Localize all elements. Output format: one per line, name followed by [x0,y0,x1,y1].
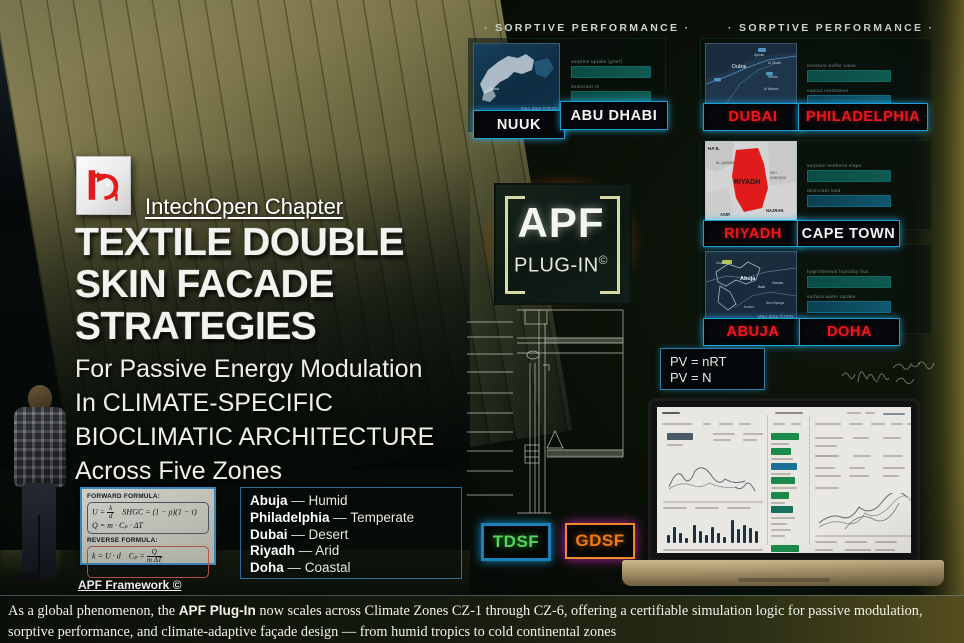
reverse-formula-heading: REVERSE FORMULA: [87,537,209,544]
forward-equation-2: Q = m · Cₚ · ΔT [92,520,204,531]
page-title: TEXTILE DOUBLE SKIN FACADE STRATEGIES [75,222,475,348]
apf-plugin-label: PLUG-IN© [494,253,628,278]
list-item: Dubai — Desert [250,527,461,544]
svg-text:Mleiha: Mleiha [768,75,778,79]
panel-group-riyadh: الرياض RIYADH HA'IL AL QASSIM ASH SHARQI… [700,140,932,230]
forward-formula-box: U = kd SHGC = (1 − ρ)(1 − τ) Q = m · Cₚ … [87,502,209,534]
laptop-trackpad [738,578,830,582]
map-coastline-icon: Nuuk [474,44,559,112]
title-line-3: STRATEGIES [75,306,475,348]
dashboard-screen[interactable] [657,407,911,553]
map-roads-icon: Abuja Gwarinpa Ado Masaka Kuduru New Nya… [706,252,796,320]
reverse-formula-box: k = U · d Cₚ = Qm ΔT ρ = 1 − SHGC [87,546,209,578]
reverse-equation-1: k = U · d Cₚ = Qm ΔT [92,549,204,564]
facade-section-drawing [455,305,645,527]
city-chip-cape-town[interactable]: CAPE TOWN [797,220,900,247]
copyright-symbol: © [599,253,608,267]
caption-bar: As a global phenomenon, the APF Plug-In … [0,595,964,643]
forward-equation-1: U = kd SHGC = (1 − ρ)(1 − τ) [92,505,204,520]
city-chip-nuuk[interactable]: NUUK [473,110,565,139]
subtitle-line-3: BIOCLIMATIC ARCHITECTURE [75,420,495,454]
svg-text:SHARQIYA: SHARQIYA [770,176,787,180]
city-chip-doha[interactable]: DOHA [799,318,900,346]
field-bar-1[interactable] [807,70,891,82]
svg-text:AL QASSIM: AL QASSIM [716,161,734,165]
field-label-1: moisture buffer value [807,63,856,68]
climate-zone-list: Abuja — Humid Philadelphia — Temperate D… [240,487,462,579]
svg-text:ASIR: ASIR [720,212,730,217]
svg-text:Abuja: Abuja [740,276,756,282]
svg-text:الرياض: الرياض [738,172,750,177]
field-label-2: desiccant load [807,188,841,193]
reverse-equation-2: ρ = 1 − SHGC [92,564,204,575]
list-item: Philadelphia — Temperate [250,510,461,527]
list-item: Abuja — Humid [250,493,461,510]
laptop-lid [648,398,920,562]
handwriting-scribble [838,356,943,392]
sorptive-panel-right: · SORPTIVE PERFORMANCE · Dubai Ajman Al … [700,22,930,352]
map-thumbnail-nuuk[interactable]: Nuuk Map data ©2025 [473,43,560,113]
subtitle-line-1: For Passive Energy Modulation [75,352,495,386]
laptop-base [622,560,944,586]
svg-text:Masaka: Masaka [772,281,783,285]
svg-text:NAJRAN: NAJRAN [766,208,783,213]
field-label-1: hygrothermal humidity flux [807,269,868,274]
caption-text: As a global phenomenon, the APF Plug-In … [0,596,964,643]
formula-card: FORWARD FORMULA: U = kd SHGC = (1 − ρ)(1… [80,487,216,565]
pv-line-2: PV = N [670,370,764,386]
field-bar-1[interactable] [571,66,651,78]
city-chip-abu-dhabi[interactable]: ABU DHABI [560,101,668,130]
tag-tdsf[interactable]: TDSF [481,523,551,561]
subtitle-line-2: In CLIMATE-SPECIFIC [75,386,495,420]
city-chip-philadelphia[interactable]: PHILADELPHIA [798,103,928,131]
list-item: Riyadh — Arid [250,543,461,560]
city-chip-dubai[interactable]: DUBAI [703,103,803,131]
pv-line-1: PV = nRT [670,354,764,370]
svg-text:ASH: ASH [770,171,777,175]
page-subtitle: For Passive Energy Modulation In CLIMATE… [75,352,495,488]
panel-title-left: · SORPTIVE PERFORMANCE · [484,22,690,34]
svg-text:Kuduru: Kuduru [744,305,755,309]
field-label-1: sorption isotherm slope [807,163,861,168]
intechopen-logo [76,156,131,215]
panel-title-right: · SORPTIVE PERFORMANCE · [728,22,934,34]
intechopen-logo-icon [85,166,122,204]
list-item: Doha — Coastal [250,560,461,577]
svg-text:Nuuk: Nuuk [490,86,499,91]
field-label-2: vapour resistance [807,88,848,93]
field-bar-1[interactable] [807,276,891,288]
person-walking [8,385,70,590]
brand-label: IntechOpen Chapter [145,194,343,220]
laptop-mockup [618,398,948,594]
svg-text:Al Dhaid: Al Dhaid [768,61,781,65]
field-bar-2[interactable] [807,301,891,313]
svg-text:Ajman: Ajman [754,53,764,57]
title-line-1: TEXTILE DOUBLE [75,222,475,264]
pv-formula-box: PV = nRT PV = N [660,348,765,390]
title-line-2: SKIN FACADE [75,264,475,306]
svg-text:Gwarinpa: Gwarinpa [716,261,730,265]
field-label-2: desiccant rh [571,84,599,89]
city-chip-riyadh[interactable]: RIYADH [703,220,803,247]
field-bar-1[interactable] [807,170,891,182]
subtitle-line-4: Across Five Zones [75,454,495,488]
apf-wordmark: APF [494,199,628,247]
apf-framework-label: APF Framework © [78,578,182,592]
map-thumbnail-riyadh[interactable]: الرياض RIYADH HA'IL AL QASSIM ASH SHARQI… [705,141,797,221]
map-thumbnail-abuja[interactable]: Abuja Gwarinpa Ado Masaka Kuduru New Nya… [705,251,797,321]
svg-text:Dubai: Dubai [732,64,746,70]
field-bar-2[interactable] [807,195,891,207]
svg-text:New Nyanya: New Nyanya [766,301,784,305]
svg-text:Al Madam: Al Madam [764,87,779,91]
forward-formula-heading: FORWARD FORMULA: [87,493,209,500]
city-chip-abuja[interactable]: ABUJA [703,318,803,346]
svg-text:RIYADH: RIYADH [734,179,760,186]
svg-text:Ado: Ado [758,284,766,289]
map-region-icon: الرياض RIYADH HA'IL AL QASSIM ASH SHARQI… [706,142,796,220]
field-label-2: surface water uptake [807,294,856,299]
poster-canvas: IntechOpen Chapter TEXTILE DOUBLE SKIN F… [0,0,964,643]
svg-text:HA'IL: HA'IL [708,146,720,151]
field-label-1: sorptive uptake (g/m²) [571,59,622,64]
